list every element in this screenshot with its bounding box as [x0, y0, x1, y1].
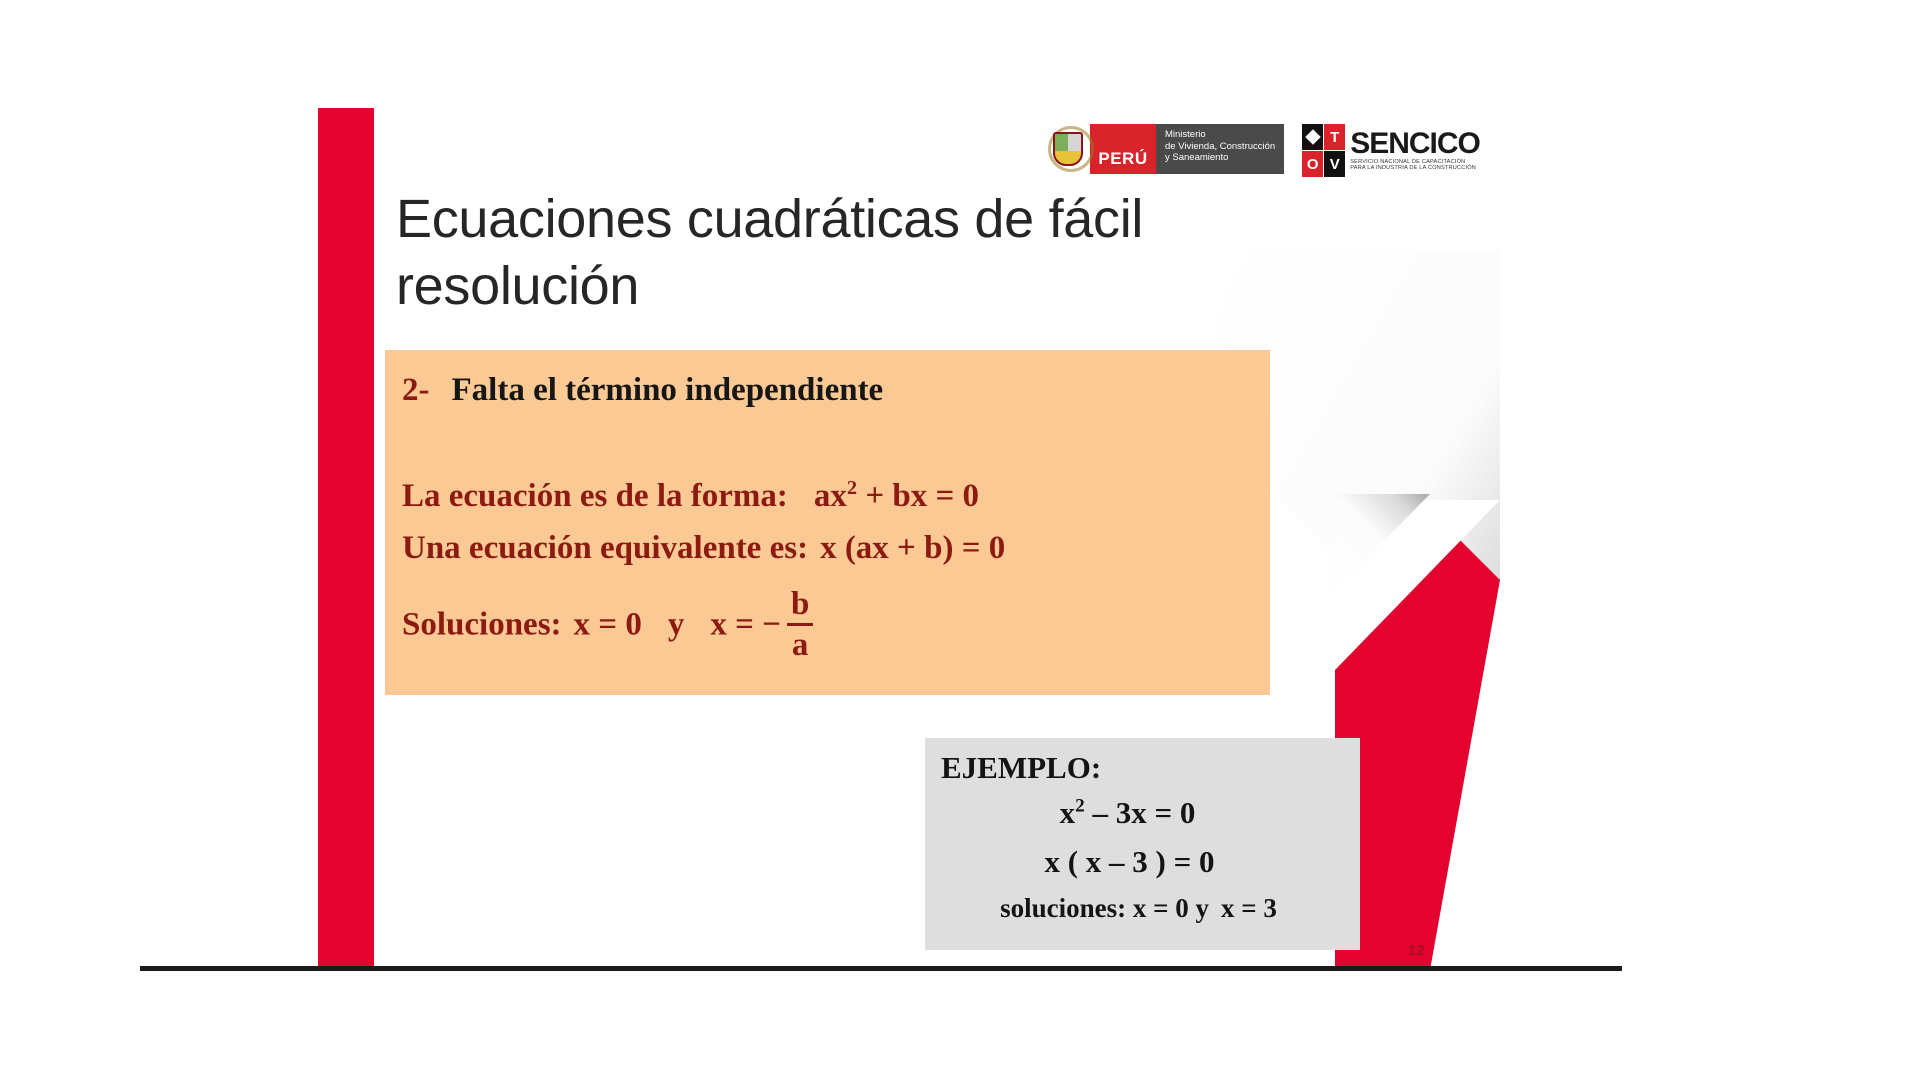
ministry-line-2: de Vivienda, Construcción — [1165, 141, 1275, 153]
rule-form-line: La ecuación es de la forma:ax2 + bx = 0 — [402, 478, 979, 515]
rule-heading-text: Falta el término independiente — [452, 372, 884, 408]
example-solution-2: x = 3 — [1221, 893, 1277, 923]
example-eq-rest: – 3x = 0 — [1092, 795, 1195, 830]
sencico-wordmark-block: SENCICO SERVICIO NACIONAL DE CAPACITACIÓ… — [1350, 124, 1480, 176]
fraction-denominator: a — [785, 626, 815, 662]
example-panel: EJEMPLO: x2 – 3x = 0 x ( x – 3 ) = 0 sol… — [925, 738, 1360, 950]
sencico-tagline-2: PARA LA INDUSTRIA DE LA CONSTRUCCIÓN — [1350, 165, 1480, 171]
sencico-glyph-t: T — [1324, 124, 1345, 150]
rule-form-eq-power: 2 — [847, 477, 857, 499]
ministry-line-3: y Saneamiento — [1165, 152, 1275, 164]
sencico-diamond-icon — [1302, 124, 1323, 150]
rule-heading: 2-Falta el término independiente — [402, 372, 883, 409]
page-number: 12 — [1408, 942, 1425, 959]
example-solutions: soluciones: x = 0 yx = 3 — [925, 893, 1360, 924]
peru-ministry-logo: PERÚ Ministerio de Vivienda, Construcció… — [1046, 124, 1284, 174]
rule-solutions-label: Soluciones: — [402, 607, 562, 643]
sencico-glyph-grid: T O V — [1302, 124, 1345, 176]
rule-equivalent-label: Una ecuación equivalente es: — [402, 530, 808, 566]
rule-panel: 2-Falta el término independiente La ecua… — [385, 350, 1270, 695]
sencico-glyph-o: O — [1302, 151, 1323, 177]
rule-solution-1: x = 0 — [574, 607, 642, 643]
sencico-glyph-v-label: V — [1324, 151, 1345, 177]
example-title: EJEMPLO: — [941, 750, 1101, 786]
rule-solutions-conjunction: y — [668, 607, 685, 643]
rule-solutions-line: Soluciones:x = 0yx = −ba — [402, 590, 815, 664]
example-solution-1: x = 0 — [1133, 893, 1189, 923]
rule-form-eq-base: ax — [814, 478, 847, 514]
rule-form-eq-rest: + bx = 0 — [865, 478, 979, 514]
peru-wordmark: PERÚ — [1090, 124, 1156, 174]
sencico-glyph-t-label: T — [1324, 124, 1345, 150]
example-factored: x ( x – 3 ) = 0 — [925, 844, 1360, 880]
ministry-line-1: Ministerio — [1165, 129, 1275, 141]
ministry-name-block: Ministerio de Vivienda, Construcción y S… — [1156, 124, 1284, 174]
example-eq-base: x — [1060, 795, 1076, 830]
sencico-logo: T O V SENCICO SERVICIO NACIONAL DE CAPAC… — [1302, 124, 1480, 176]
red-accent-bar — [318, 108, 374, 970]
peru-coat-of-arms-icon — [1046, 124, 1090, 174]
slide-canvas: PERÚ Ministerio de Vivienda, Construcció… — [0, 0, 1920, 1080]
sencico-glyph-v: V — [1324, 151, 1345, 177]
fraction-numerator: b — [785, 588, 815, 623]
rule-equivalent-line: Una ecuación equivalente es:x (ax + b) =… — [402, 530, 1005, 567]
rule-solution-2-prefix: x = − — [710, 607, 781, 643]
logo-strip: PERÚ Ministerio de Vivienda, Construcció… — [1046, 124, 1480, 176]
example-solutions-label: soluciones: — [1000, 893, 1126, 923]
rule-form-label: La ecuación es de la forma: — [402, 478, 788, 514]
rule-number: 2- — [402, 372, 430, 408]
example-eq-power: 2 — [1075, 796, 1085, 817]
baseline-rule — [140, 966, 1622, 971]
sencico-wordmark: SENCICO — [1350, 129, 1480, 159]
slide-title: Ecuaciones cuadráticas de fácil resoluci… — [396, 186, 1226, 320]
rule-equivalent-equation: x (ax + b) = 0 — [820, 530, 1005, 566]
example-equation: x2 – 3x = 0 — [925, 795, 1360, 831]
example-solutions-conjunction: y — [1196, 893, 1210, 923]
rule-solution-2-fraction: ba — [785, 588, 815, 662]
sencico-glyph-o-label: O — [1302, 151, 1323, 177]
